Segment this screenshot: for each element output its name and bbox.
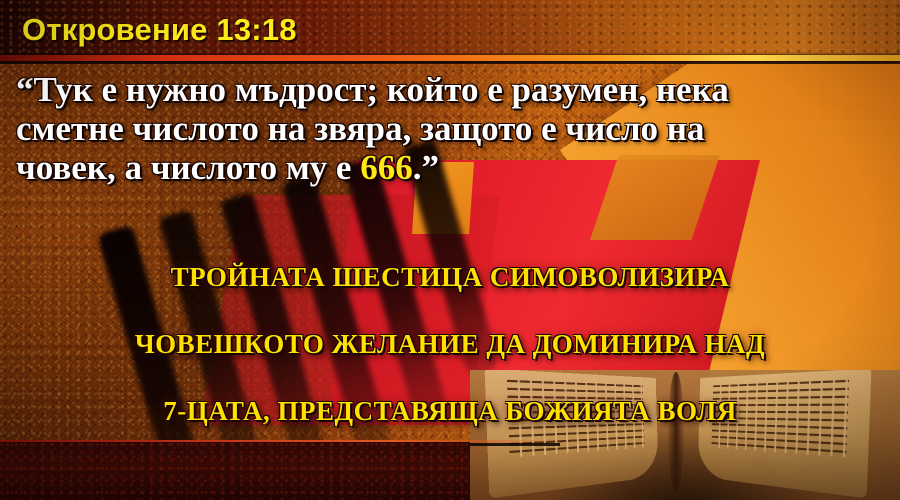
bottom-strip xyxy=(0,442,470,500)
statement-line-2: ЧОВЕШКОТО ЖЕЛАНИЕ ДА ДОМИНИРА НАД xyxy=(0,329,900,360)
quote-open: “ xyxy=(16,70,34,109)
bottom-strip-texture xyxy=(0,442,470,500)
scripture-slide: Откровение 13:18 “Тук е нужно мъдрост; к… xyxy=(0,0,900,500)
verse-reference: Откровение 13:18 xyxy=(22,12,297,48)
statement-line-3: 7-ЦАТА, ПРЕДСТАВЯЩА БОЖИЯТА ВОЛЯ xyxy=(0,396,900,427)
quote-number-highlight: 666 xyxy=(360,148,413,187)
statement-line-1: ТРОЙНАТА ШЕСТИЦА СИМОВОЛИЗИРА xyxy=(0,262,900,293)
header-divider-shadow xyxy=(0,61,900,64)
statement-block: ТРОЙНАТА ШЕСТИЦА СИМОВОЛИЗИРА ЧОВЕШКОТО … xyxy=(0,262,900,463)
quote-close: ” xyxy=(421,148,439,187)
scripture-quote: “Тук е нужно мъдрост; който е разумен, н… xyxy=(16,70,776,187)
